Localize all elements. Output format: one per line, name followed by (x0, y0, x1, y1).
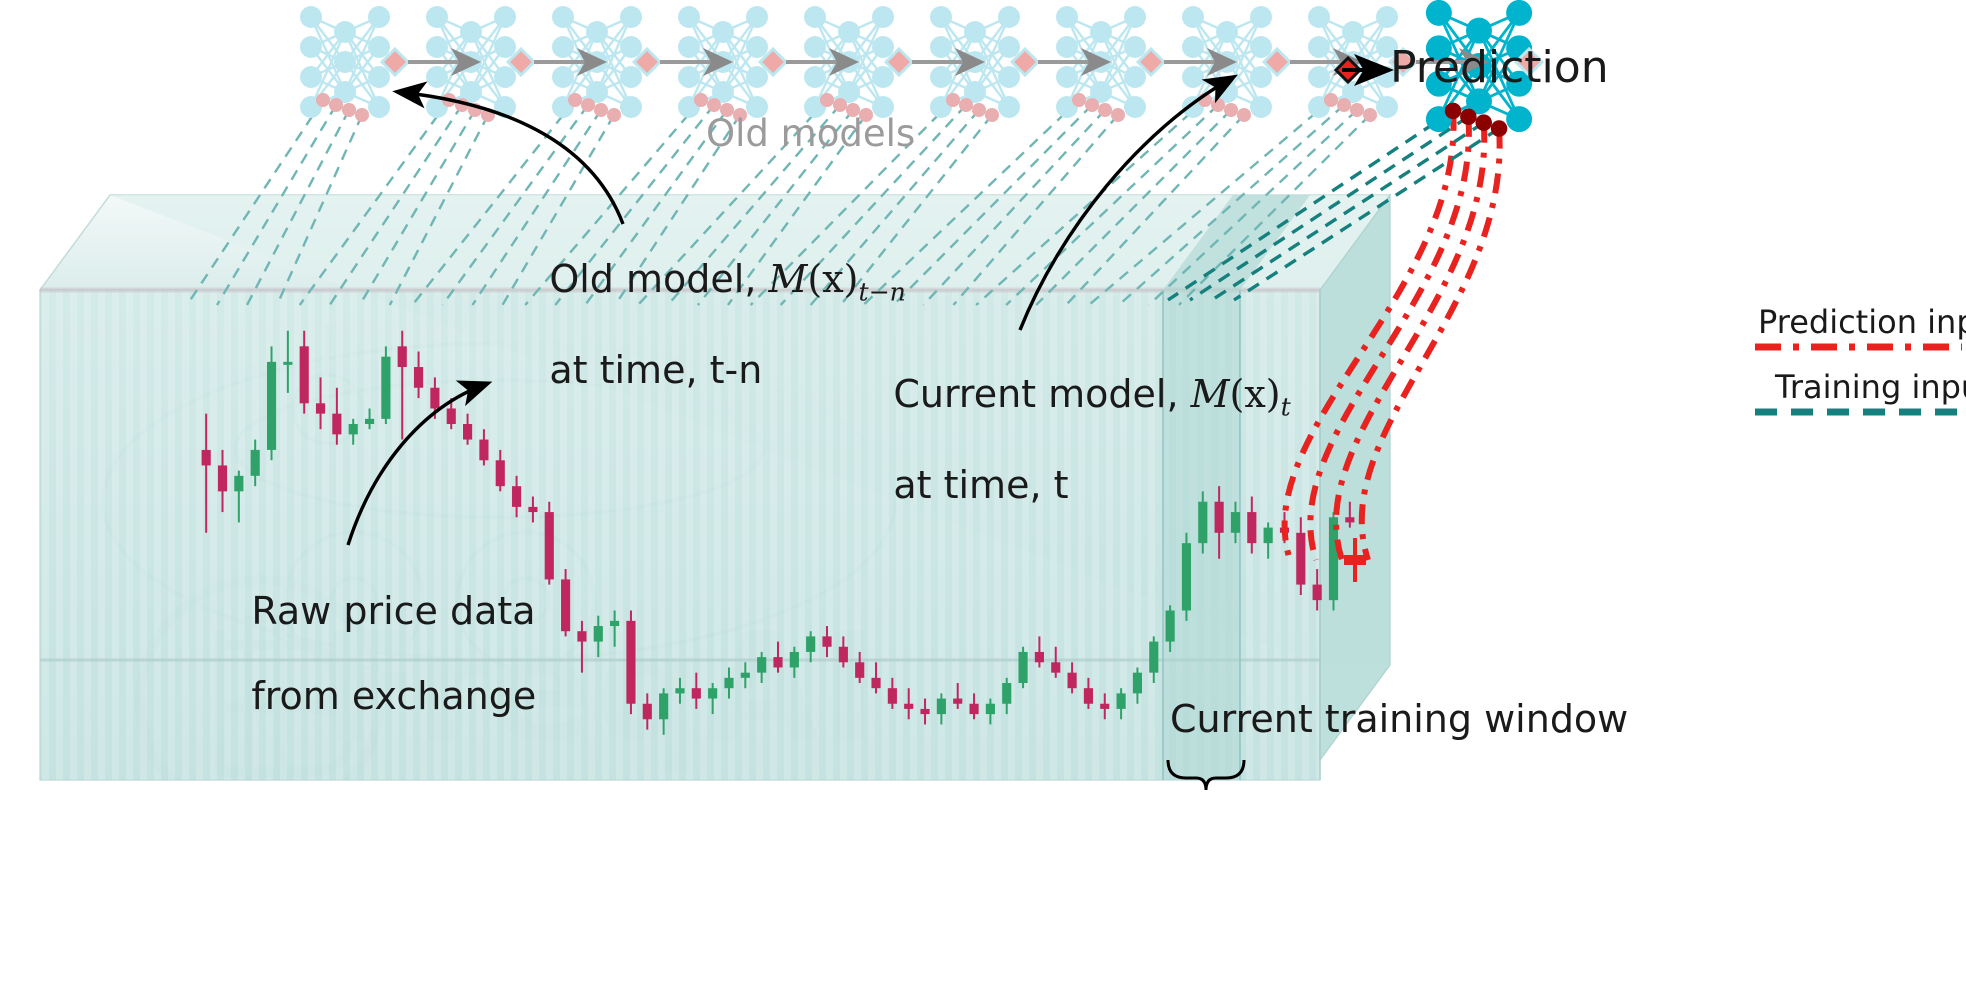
old-model-math-x: (x) (807, 257, 858, 301)
old-model-math-sub: t−n (859, 277, 906, 306)
label-training-window: Current training window (1170, 698, 1628, 741)
old-model-text: Old model, (549, 257, 768, 301)
diagram-canvas: FreqAI (0, 0, 1966, 981)
current-model-math-M: M (1191, 372, 1230, 416)
label-raw-price: Raw price data from exchange (203, 547, 536, 760)
current-model-time: at time, t (893, 463, 1068, 507)
current-model-text: Current model, (893, 372, 1190, 416)
legend-label-training: Training input (1775, 370, 1966, 406)
old-model-time: at time, t-n (549, 348, 762, 392)
legend-label-prediction: Prediction input (1758, 305, 1966, 341)
raw-price-line1: Raw price data (251, 589, 535, 633)
old-model-math-M: M (768, 257, 807, 301)
raw-price-line2: from exchange (251, 674, 536, 718)
current-model-math-x: (x) (1230, 372, 1281, 416)
label-old-models: Old models (706, 113, 915, 154)
label-current-model: Current model, M(x)t at time, t (845, 330, 1291, 549)
label-prediction: Prediction (1390, 43, 1609, 92)
current-model-math-sub: t (1281, 392, 1291, 421)
